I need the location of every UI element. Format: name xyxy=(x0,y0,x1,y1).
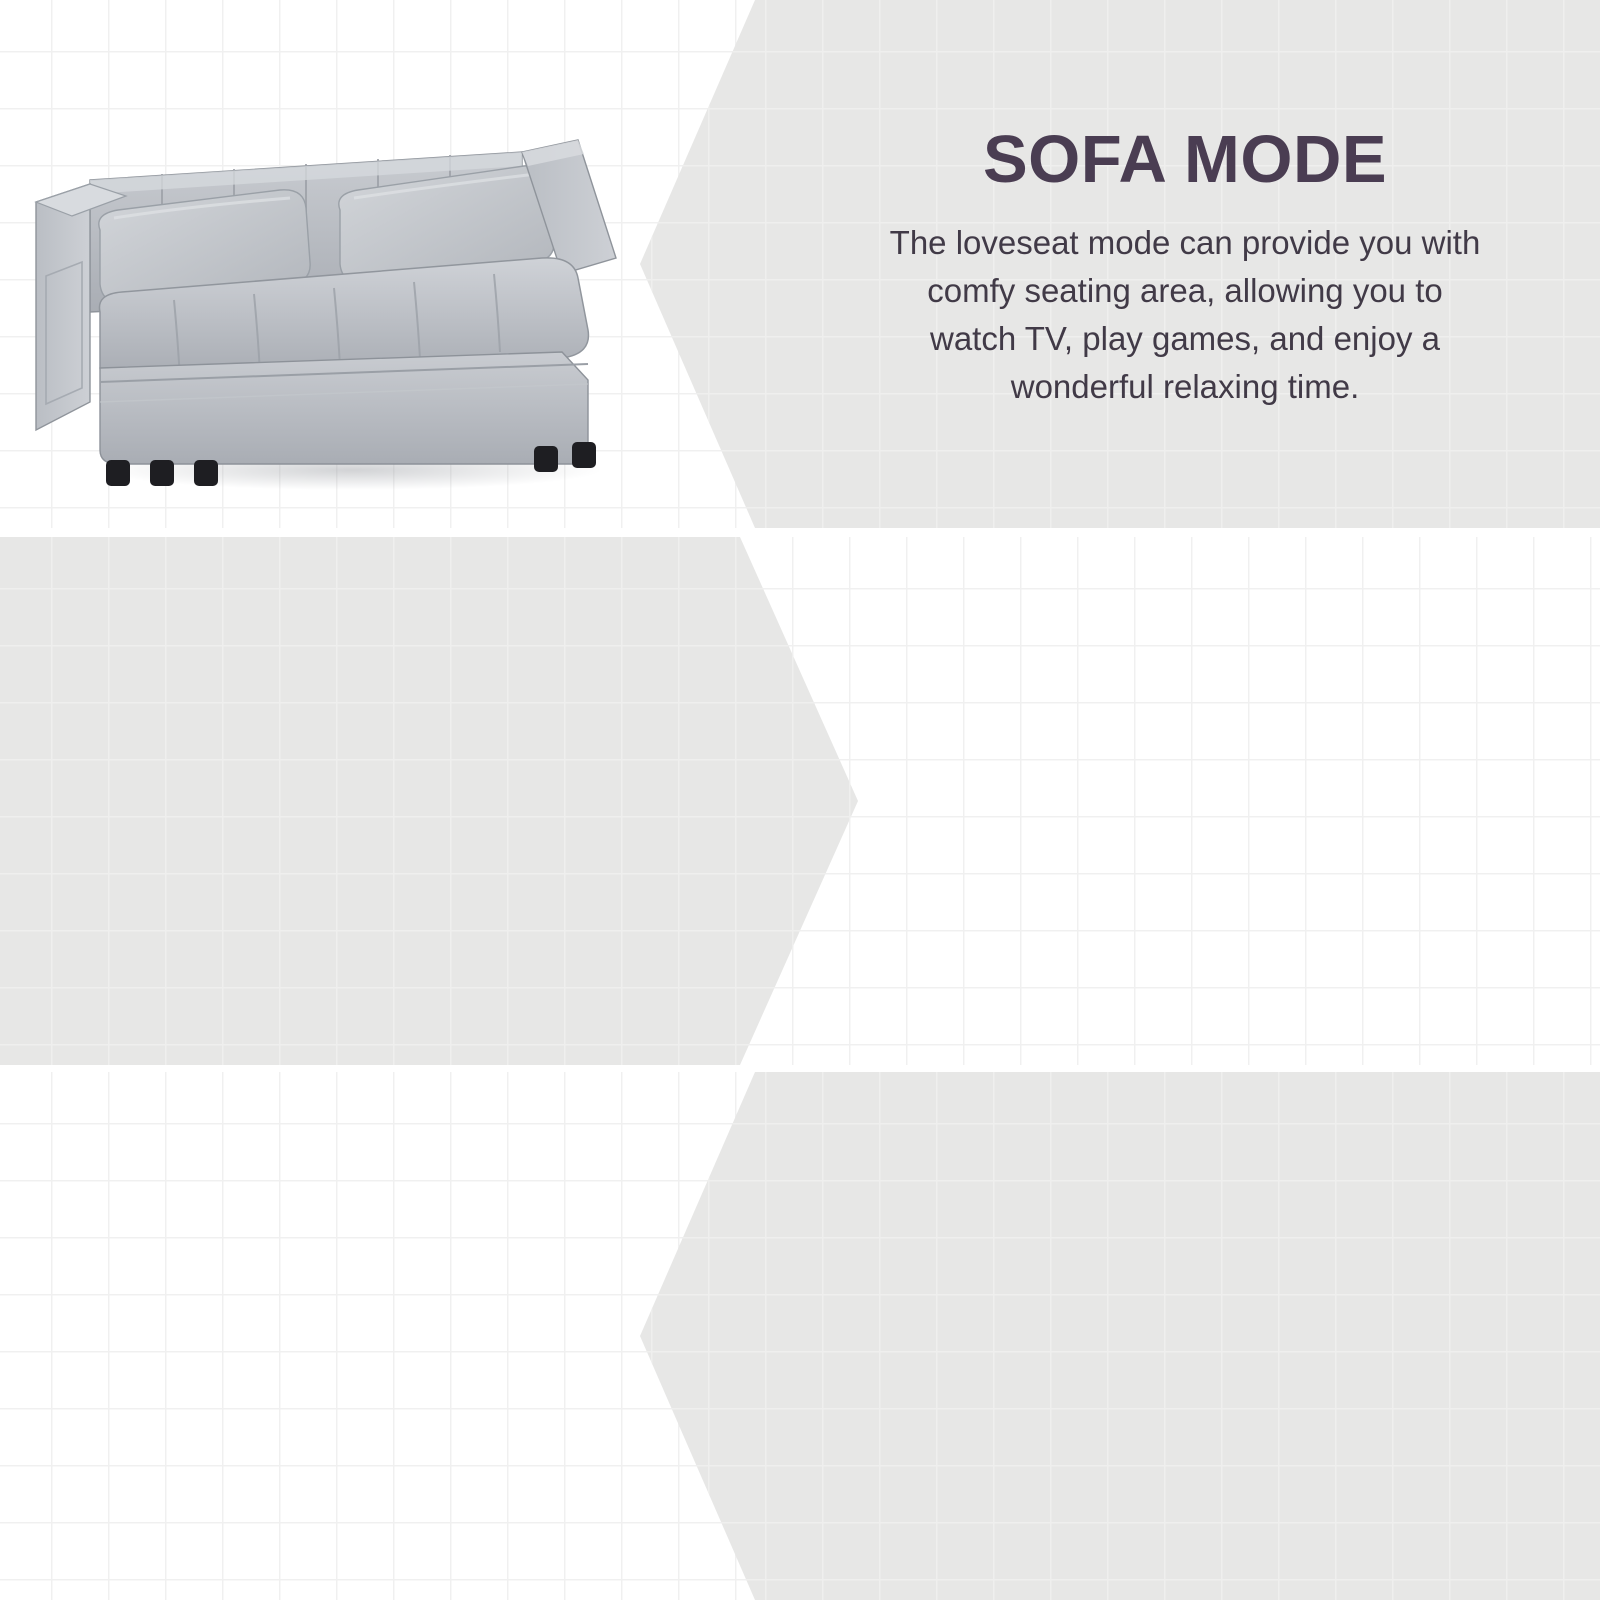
desc-line: comfy seating area, allowing you to xyxy=(800,267,1570,315)
section-sofa-mode: SOFA MODE The loveseat mode can provide … xyxy=(0,0,1600,528)
infographic-page: SOFA MODE The loveseat mode can provide … xyxy=(0,0,1600,1600)
sofa-mode-title: SOFA MODE xyxy=(800,126,1570,193)
section-lounger-mode: LOUNGER MODE Pull out the end of the sof… xyxy=(0,537,1600,1065)
desc-line: wonderful relaxing time. xyxy=(800,363,1570,411)
section-bed-mode: BED MODE Pull down the backrest to turn … xyxy=(0,1072,1600,1600)
sofa-mode-description: The loveseat mode can provide you with c… xyxy=(800,219,1570,410)
desc-line: watch TV, play games, and enjoy a xyxy=(800,315,1570,363)
desc-line: The loveseat mode can provide you with xyxy=(800,219,1570,267)
chevron-panel xyxy=(600,1072,1600,1600)
chevron-panel xyxy=(0,537,880,1065)
sofa-mode-product-image xyxy=(22,62,642,492)
sofa-mode-text-block: SOFA MODE The loveseat mode can provide … xyxy=(800,126,1570,410)
